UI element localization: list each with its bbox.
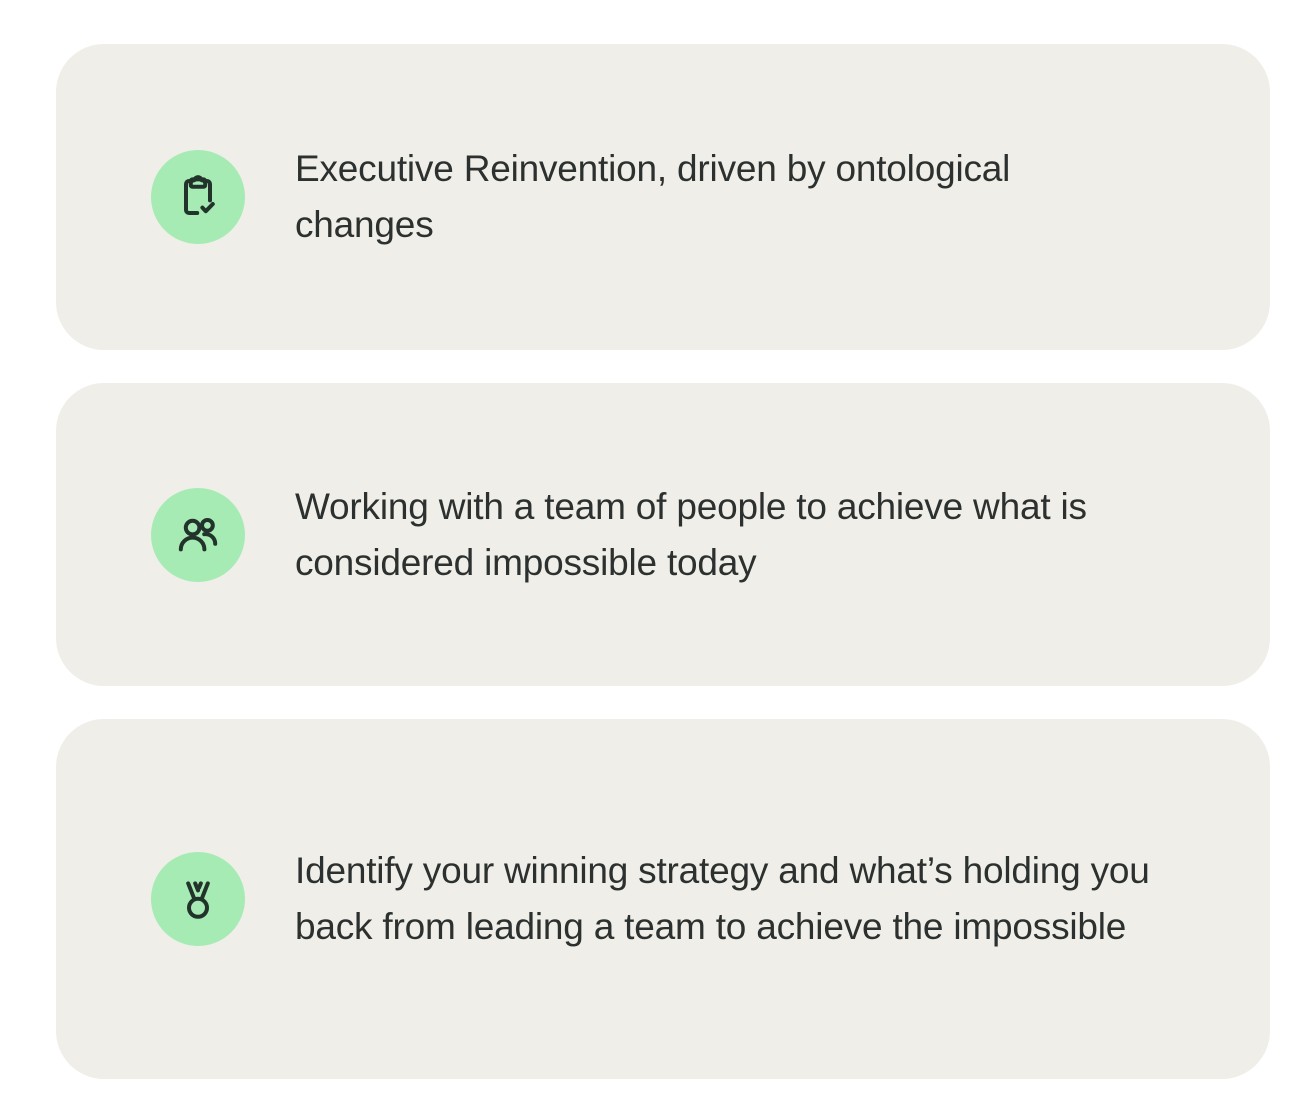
medal-icon-badge xyxy=(151,852,245,946)
feature-card[interactable]: Identify your winning strategy and what’… xyxy=(56,719,1270,1079)
feature-cards-page: Executive Reinvention, driven by ontolog… xyxy=(0,0,1294,1104)
clipboard-check-icon xyxy=(174,173,222,221)
feature-card-text: Working with a team of people to achieve… xyxy=(295,479,1155,591)
clipboard-check-icon-badge xyxy=(151,150,245,244)
feature-card[interactable]: Executive Reinvention, driven by ontolog… xyxy=(56,44,1270,350)
users-icon-badge xyxy=(151,488,245,582)
feature-card-text: Executive Reinvention, driven by ontolog… xyxy=(295,141,1085,253)
feature-card-list: Executive Reinvention, driven by ontolog… xyxy=(56,44,1270,1079)
medal-icon xyxy=(174,875,222,923)
users-icon xyxy=(174,511,222,559)
feature-card-text: Identify your winning strategy and what’… xyxy=(295,843,1155,955)
feature-card[interactable]: Working with a team of people to achieve… xyxy=(56,383,1270,686)
